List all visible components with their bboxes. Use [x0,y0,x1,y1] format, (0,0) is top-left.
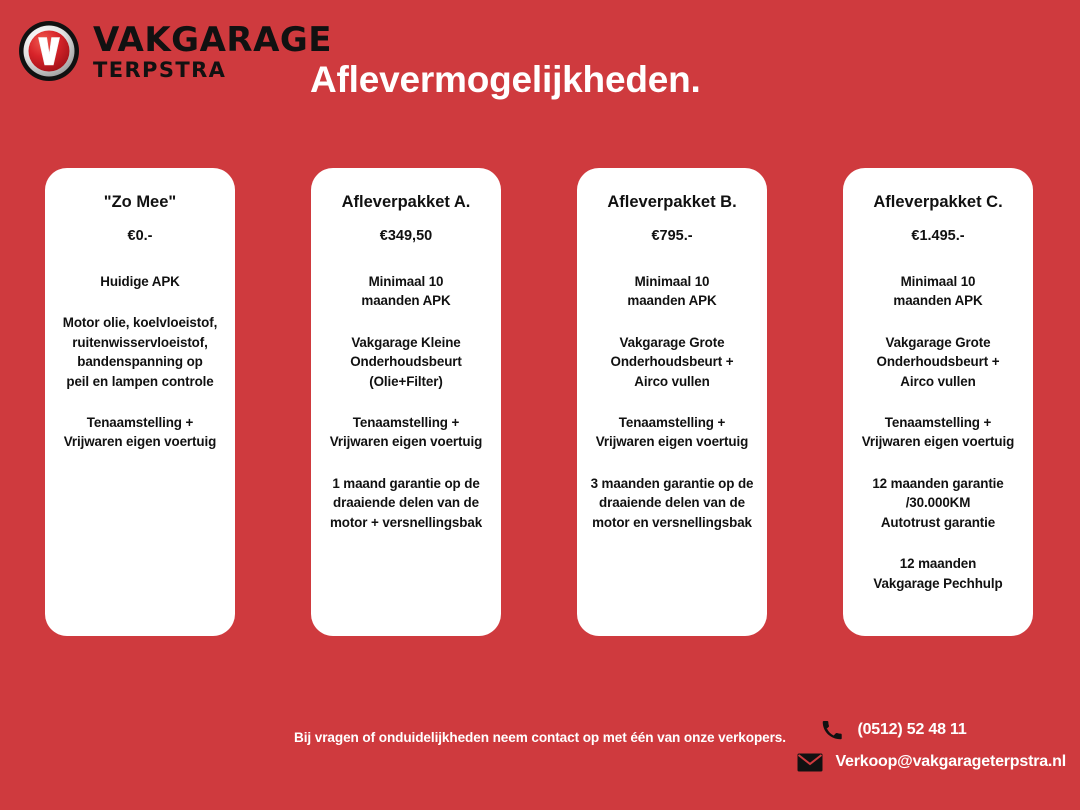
brand-wordmark: VAKGARAGE TERPSTRA [93,21,332,81]
package-card-feature: Minimaal 10 maanden APK [361,272,450,311]
phone-icon [819,719,845,741]
package-card-feature: Tenaamstelling + Vrijwaren eigen voertui… [568,413,776,452]
package-card-title: Afleverpakket C. [873,192,1002,213]
envelope-icon [797,751,823,773]
package-card: Afleverpakket A.€349,50Minimaal 10 maand… [311,168,501,636]
package-card-feature: 12 maanden Vakgarage Pechhulp [873,554,1002,593]
contact-block: (0512) 52 48 11 Verkoop@vakgarageterpstr… [797,717,1066,775]
contact-phone[interactable]: (0512) 52 48 11 [797,717,966,743]
package-card-title: Afleverpakket A. [342,192,471,213]
package-card-feature: Minimaal 10 maanden APK [893,272,982,311]
package-card-list: "Zo Mee"€0.-Huidige APKMotor olie, koelv… [45,168,1040,636]
package-card-feature: 1 maand garantie op de draaiende delen v… [302,474,510,532]
package-card-feature: Minimaal 10 maanden APK [627,272,716,311]
package-card-price: €0.- [128,227,153,245]
phone-number: (0512) 52 48 11 [857,721,966,739]
package-card-price: €1.495.- [911,227,964,245]
brand-subname: TERPSTRA [93,60,332,81]
package-card-price: €349,50 [380,227,432,245]
email-address: Verkoop@vakgarageterpstra.nl [835,753,1066,771]
page-footer: Bij vragen of onduidelijkheden neem cont… [0,705,1080,810]
package-card-feature: 3 maanden garantie op de draaiende delen… [568,474,776,532]
page-title: Aflevermogelijkheden. [310,59,701,101]
package-card-feature: Motor olie, koelvloeistof, ruitenwisserv… [36,313,244,391]
brand-name: VAKGARAGE [93,23,332,57]
page-header: VAKGARAGE TERPSTRA Aflevermogelijkheden. [0,0,1080,150]
package-card-feature: Tenaamstelling + Vrijwaren eigen voertui… [302,413,510,452]
brand-logo: VAKGARAGE TERPSTRA [18,20,332,82]
vakgarage-v-shield-icon [18,20,80,82]
package-card-title: Afleverpakket B. [607,192,736,213]
contact-email[interactable]: Verkoop@vakgarageterpstra.nl [797,749,1066,775]
package-card-feature: Vakgarage Grote Onderhoudsbeurt + Airco … [611,333,734,391]
package-card-title: "Zo Mee" [104,192,177,213]
package-card: Afleverpakket B.€795.-Minimaal 10 maande… [577,168,767,636]
package-card-feature: Tenaamstelling + Vrijwaren eigen voertui… [36,413,244,452]
package-card-feature: 12 maanden garantie /30.000KM Autotrust … [872,474,1003,532]
package-card: Afleverpakket C.€1.495.-Minimaal 10 maan… [843,168,1033,636]
package-card-feature: Vakgarage Grote Onderhoudsbeurt + Airco … [877,333,1000,391]
package-card-feature: Huidige APK [100,272,180,291]
package-card-feature: Vakgarage Kleine Onderhoudsbeurt (Olie+F… [350,333,462,391]
package-card: "Zo Mee"€0.-Huidige APKMotor olie, koelv… [45,168,235,636]
package-card-price: €795.- [651,227,692,245]
package-card-feature: Tenaamstelling + Vrijwaren eigen voertui… [834,413,1042,452]
